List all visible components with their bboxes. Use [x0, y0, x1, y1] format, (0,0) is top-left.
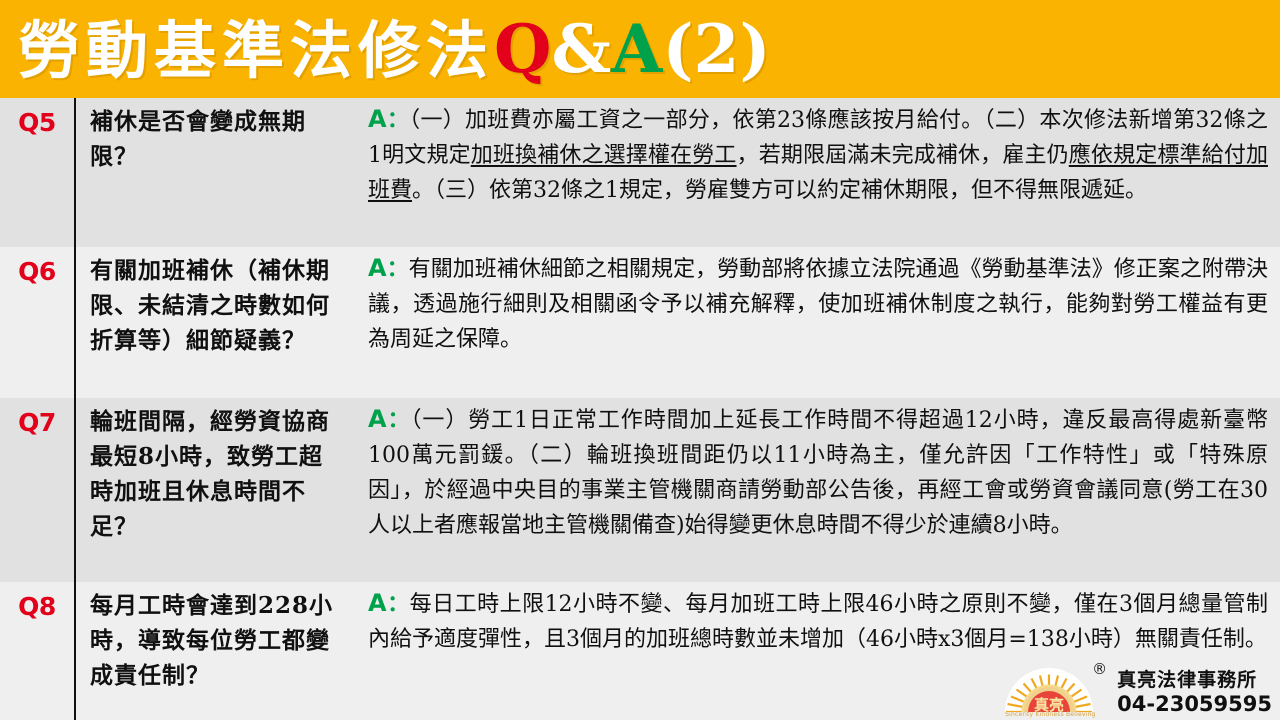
slide-page: 勞動基準法修法Q&A(2) Q5 補休是否會變成無期限？ A：（一）加班費亦屬工…	[0, 0, 1280, 720]
answer-marker-icon: A	[368, 105, 387, 133]
page-title-number: (2)	[662, 10, 770, 88]
brand-text-block: 真亮法律事務所 04-23059595	[1103, 668, 1272, 718]
sunburst-logo-icon: 真亮	[1003, 666, 1095, 712]
table-row: Q6 有關加班補休（補休期限、未結清之時數如何折算等）細節疑義？ A：有關加班補…	[0, 247, 1280, 398]
answer-segment-3: 。（三）依第32條之1規定，勞雇雙方可以約定補休期限，但不得無限遞延。	[412, 178, 1147, 203]
answer-text: A：有關加班補休細節之相關規定，勞動部將依據立法院通過《勞動基準法》修正案之附帶…	[368, 251, 1268, 357]
table-row: Q7 輪班間隔，經勞資協商最短8小時，致勞工超時加班且休息時間不足？ A：（一）…	[0, 398, 1280, 582]
question-number-label: Q6	[18, 257, 56, 286]
answer-cell: A：（一）加班費亦屬工資之一部分，依第23條應該按月給付。（二）本次修法新增第3…	[354, 98, 1280, 247]
answer-text: A：（一）加班費亦屬工資之一部分，依第23條應該按月給付。（二）本次修法新增第3…	[368, 102, 1268, 208]
answer-text: A：（一）勞工1日正常工作時間加上延長工作時間不得超過12小時，違反最高得處新臺…	[368, 402, 1268, 543]
answer-marker-icon: A	[368, 254, 387, 282]
page-title-main: 勞動基準法修法	[18, 14, 494, 87]
page-title: 勞動基準法修法Q&A(2)	[18, 6, 771, 94]
logo-tagline: Sincerity Kindness Believing	[1005, 711, 1095, 718]
question-number-cell: Q5	[0, 98, 76, 247]
answer-colon: ：	[387, 591, 410, 617]
question-number-cell: Q8	[0, 582, 76, 720]
answer-segment-1: （一）勞工1日正常工作時間加上延長工作時間不得超過12小時，違反最高得處新臺幣1…	[368, 408, 1268, 538]
svg-text:真亮: 真亮	[1034, 696, 1064, 712]
answer-colon: ：	[387, 256, 409, 282]
question-number-label: Q5	[18, 108, 56, 137]
question-text: 每月工時會達到228小時，導致每位勞工都變成責任制？	[90, 588, 344, 693]
answer-underline-1: 加班換補休之選擇權在勞工	[471, 143, 737, 168]
qa-table: Q5 補休是否會變成無期限？ A：（一）加班費亦屬工資之一部分，依第23條應該按…	[0, 98, 1280, 720]
firm-name: 真亮法律事務所	[1117, 668, 1272, 692]
question-number-cell: Q7	[0, 398, 76, 582]
answer-text: A：每日工時上限12小時不變、每月加班工時上限46小時之原則不變，僅在3個月總量…	[368, 586, 1268, 657]
firm-logo: 真亮 ® Sincerity Kindness Believing	[1003, 660, 1095, 718]
answer-cell: A：（一）勞工1日正常工作時間加上延長工作時間不得超過12小時，違反最高得處新臺…	[354, 398, 1280, 582]
question-cell: 每月工時會達到228小時，導致每位勞工都變成責任制？	[76, 582, 354, 720]
question-number-cell: Q6	[0, 247, 76, 398]
answer-segment-1: 有關加班補休細節之相關規定，勞動部將依據立法院通過《勞動基準法》修正案之附帶決議…	[368, 257, 1268, 352]
page-title-ampersand: &	[552, 10, 612, 88]
page-title-q: Q	[494, 10, 552, 88]
question-text: 補休是否會變成無期限？	[90, 104, 344, 174]
table-row: Q5 補休是否會變成無期限？ A：（一）加班費亦屬工資之一部分，依第23條應該按…	[0, 98, 1280, 247]
answer-colon: ：	[387, 407, 411, 433]
answer-cell: A：有關加班補休細節之相關規定，勞動部將依據立法院通過《勞動基準法》修正案之附帶…	[354, 247, 1280, 398]
question-cell: 輪班間隔，經勞資協商最短8小時，致勞工超時加班且休息時間不足？	[76, 398, 354, 582]
question-text: 有關加班補休（補休期限、未結清之時數如何折算等）細節疑義？	[90, 253, 344, 358]
page-title-a: A	[611, 10, 662, 88]
question-cell: 有關加班補休（補休期限、未結清之時數如何折算等）細節疑義？	[76, 247, 354, 398]
answer-colon: ：	[387, 107, 410, 133]
answer-marker-icon: A	[368, 405, 387, 433]
question-cell: 補休是否會變成無期限？	[76, 98, 354, 247]
question-number-label: Q8	[18, 592, 56, 621]
question-text: 輪班間隔，經勞資協商最短8小時，致勞工超時加班且休息時間不足？	[90, 404, 344, 544]
footer-branding: 真亮 ® Sincerity Kindness Believing 真亮法律事務…	[1003, 660, 1272, 718]
firm-phone: 04-23059595	[1117, 692, 1272, 716]
answer-segment-1: 每日工時上限12小時不變、每月加班工時上限46小時之原則不變，僅在3個月總量管制…	[368, 592, 1268, 652]
question-number-label: Q7	[18, 408, 56, 437]
registered-trademark-icon: ®	[1092, 660, 1107, 678]
header-banner: 勞動基準法修法Q&A(2)	[0, 0, 1280, 98]
answer-marker-icon: A	[368, 589, 387, 617]
answer-segment-2: ，若期限屆滿未完成補休，雇主仍	[737, 143, 1069, 168]
